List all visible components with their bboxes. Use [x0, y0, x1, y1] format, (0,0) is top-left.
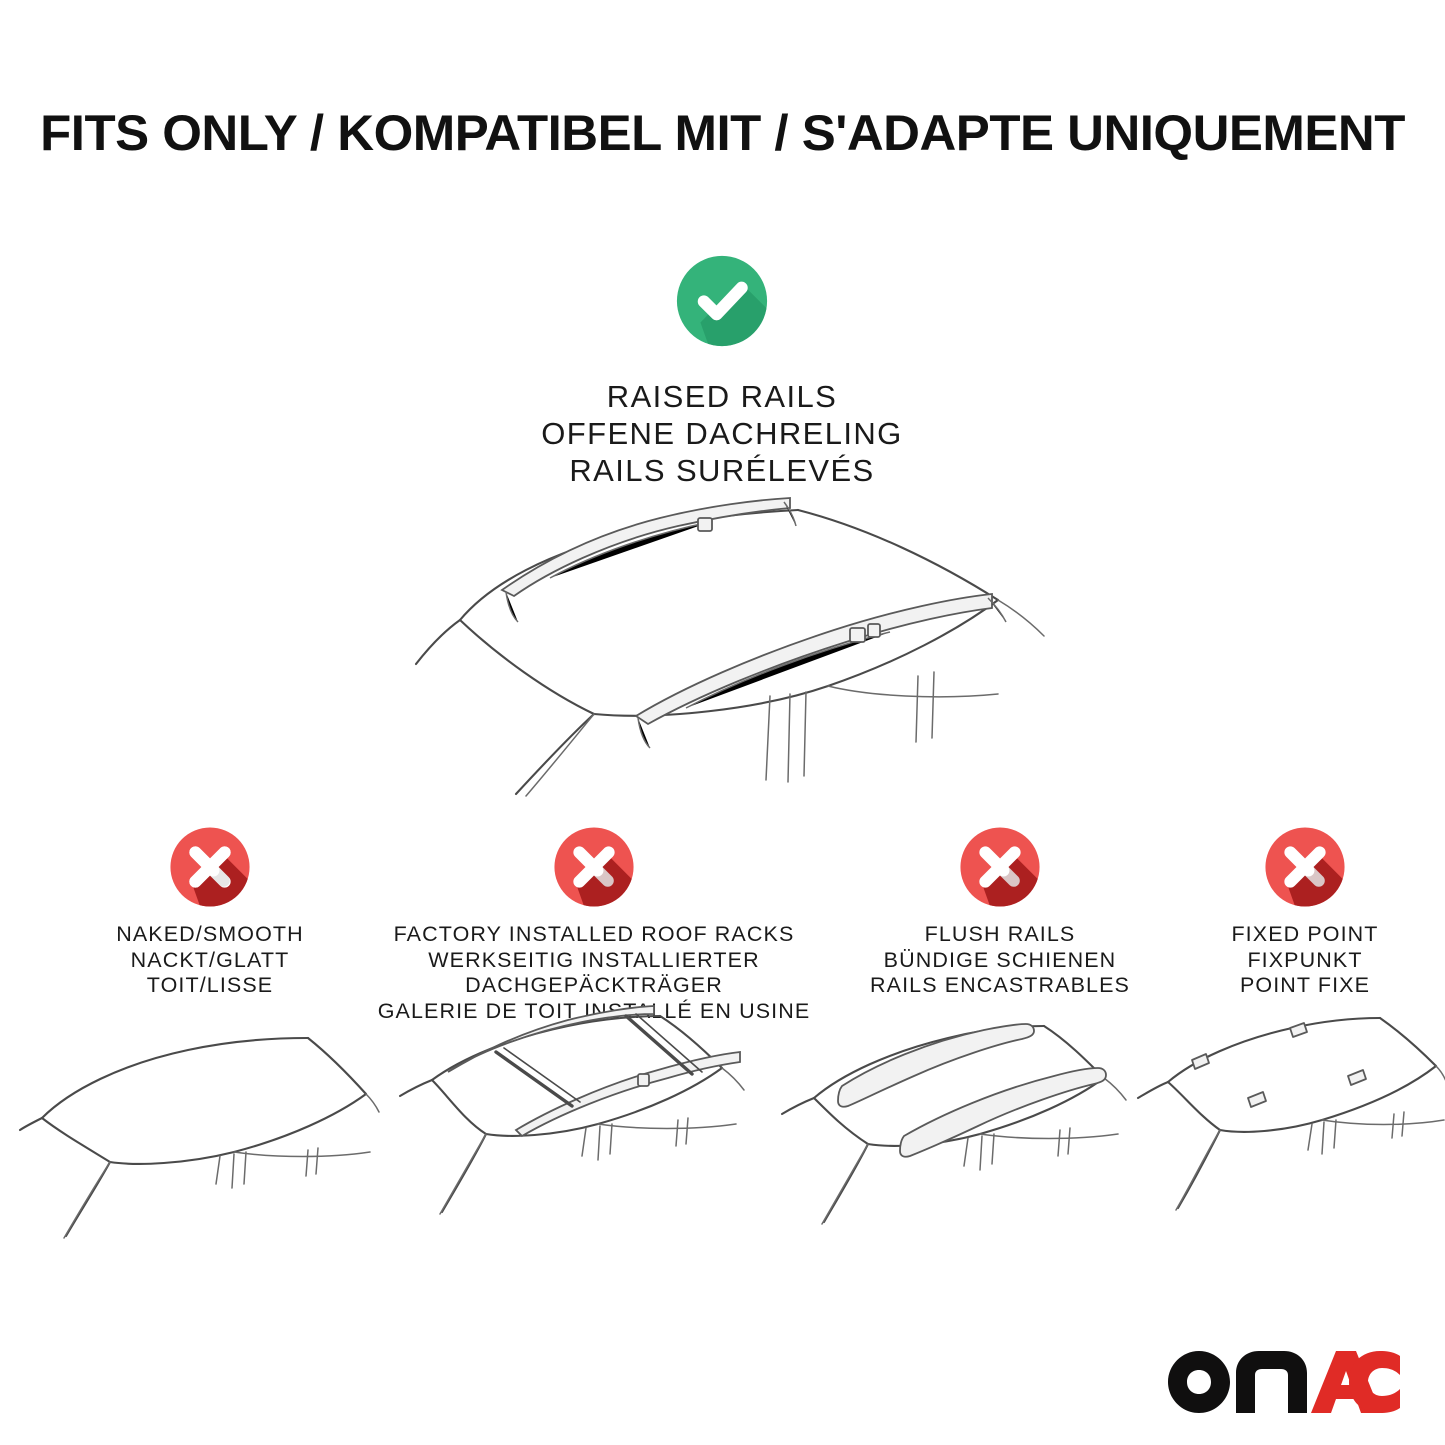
option-label-line: FLUSH RAILS: [840, 922, 1160, 948]
option-label-line: WERKSEITIG INSTALLIERTER: [364, 948, 824, 974]
incompatible-option-factory-roof-racks: FACTORY INSTALLED ROOF RACKS WERKSEITIG …: [364, 824, 824, 1024]
option-label-line: DACHGEPÄCKTRÄGER: [364, 973, 824, 999]
option-label-line: BÜNDIGE SCHIENEN: [840, 948, 1160, 974]
car-roof-factory-roof-racks-illustration: [392, 1002, 762, 1232]
option-label-line: FIXPUNKT: [1165, 948, 1445, 974]
option-label-line: POINT FIXE: [1165, 973, 1445, 999]
car-roof-raised-rails-illustration: [398, 480, 1048, 800]
fitment-compatibility-graphic: FITS ONLY / KOMPATIBEL MIT / S'ADAPTE UN…: [0, 0, 1445, 1445]
option-label-line: RAILS ENCASTRABLES: [840, 973, 1160, 999]
page-title: FITS ONLY / KOMPATIBEL MIT / S'ADAPTE UN…: [0, 104, 1445, 162]
option-label-line: FACTORY INSTALLED ROOF RACKS: [364, 922, 824, 948]
compatible-option-raised-rails: RAISED RAILS OFFENE DACHRELING RAILS SUR…: [372, 252, 1072, 489]
cross-circle-icon: [167, 824, 253, 910]
cross-circle-icon: [551, 824, 637, 910]
omac-logo: [1168, 1351, 1400, 1413]
logo-letter-m: [1236, 1351, 1307, 1413]
check-circle-icon: [673, 252, 771, 350]
logo-letter-o: [1168, 1351, 1230, 1413]
car-roof-naked-smooth-illustration: [18, 1012, 380, 1242]
option-label-line: RAISED RAILS: [372, 378, 1072, 415]
cross-circle-icon: [1262, 824, 1348, 910]
incompatible-option-flush-rails: FLUSH RAILS BÜNDIGE SCHIENEN RAILS ENCAS…: [840, 824, 1160, 999]
option-label-line: OFFENE DACHRELING: [372, 415, 1072, 452]
option-label-line: FIXED POINT: [1165, 922, 1445, 948]
check-badge-wrap: [372, 252, 1072, 356]
car-roof-flush-rails-illustration: [772, 1002, 1142, 1232]
option-label-line: TOIT/LISSE: [40, 973, 380, 999]
option-label-line: NACKT/GLATT: [40, 948, 380, 974]
incompatible-option-fixed-point: FIXED POINT FIXPUNKT POINT FIXE: [1165, 824, 1445, 999]
car-roof-fixed-point-illustration: [1132, 1002, 1445, 1232]
cross-circle-icon: [957, 824, 1043, 910]
option-label-line: NAKED/SMOOTH: [40, 922, 380, 948]
incompatible-option-naked-smooth: NAKED/SMOOTH NACKT/GLATT TOIT/LISSE: [40, 824, 380, 999]
